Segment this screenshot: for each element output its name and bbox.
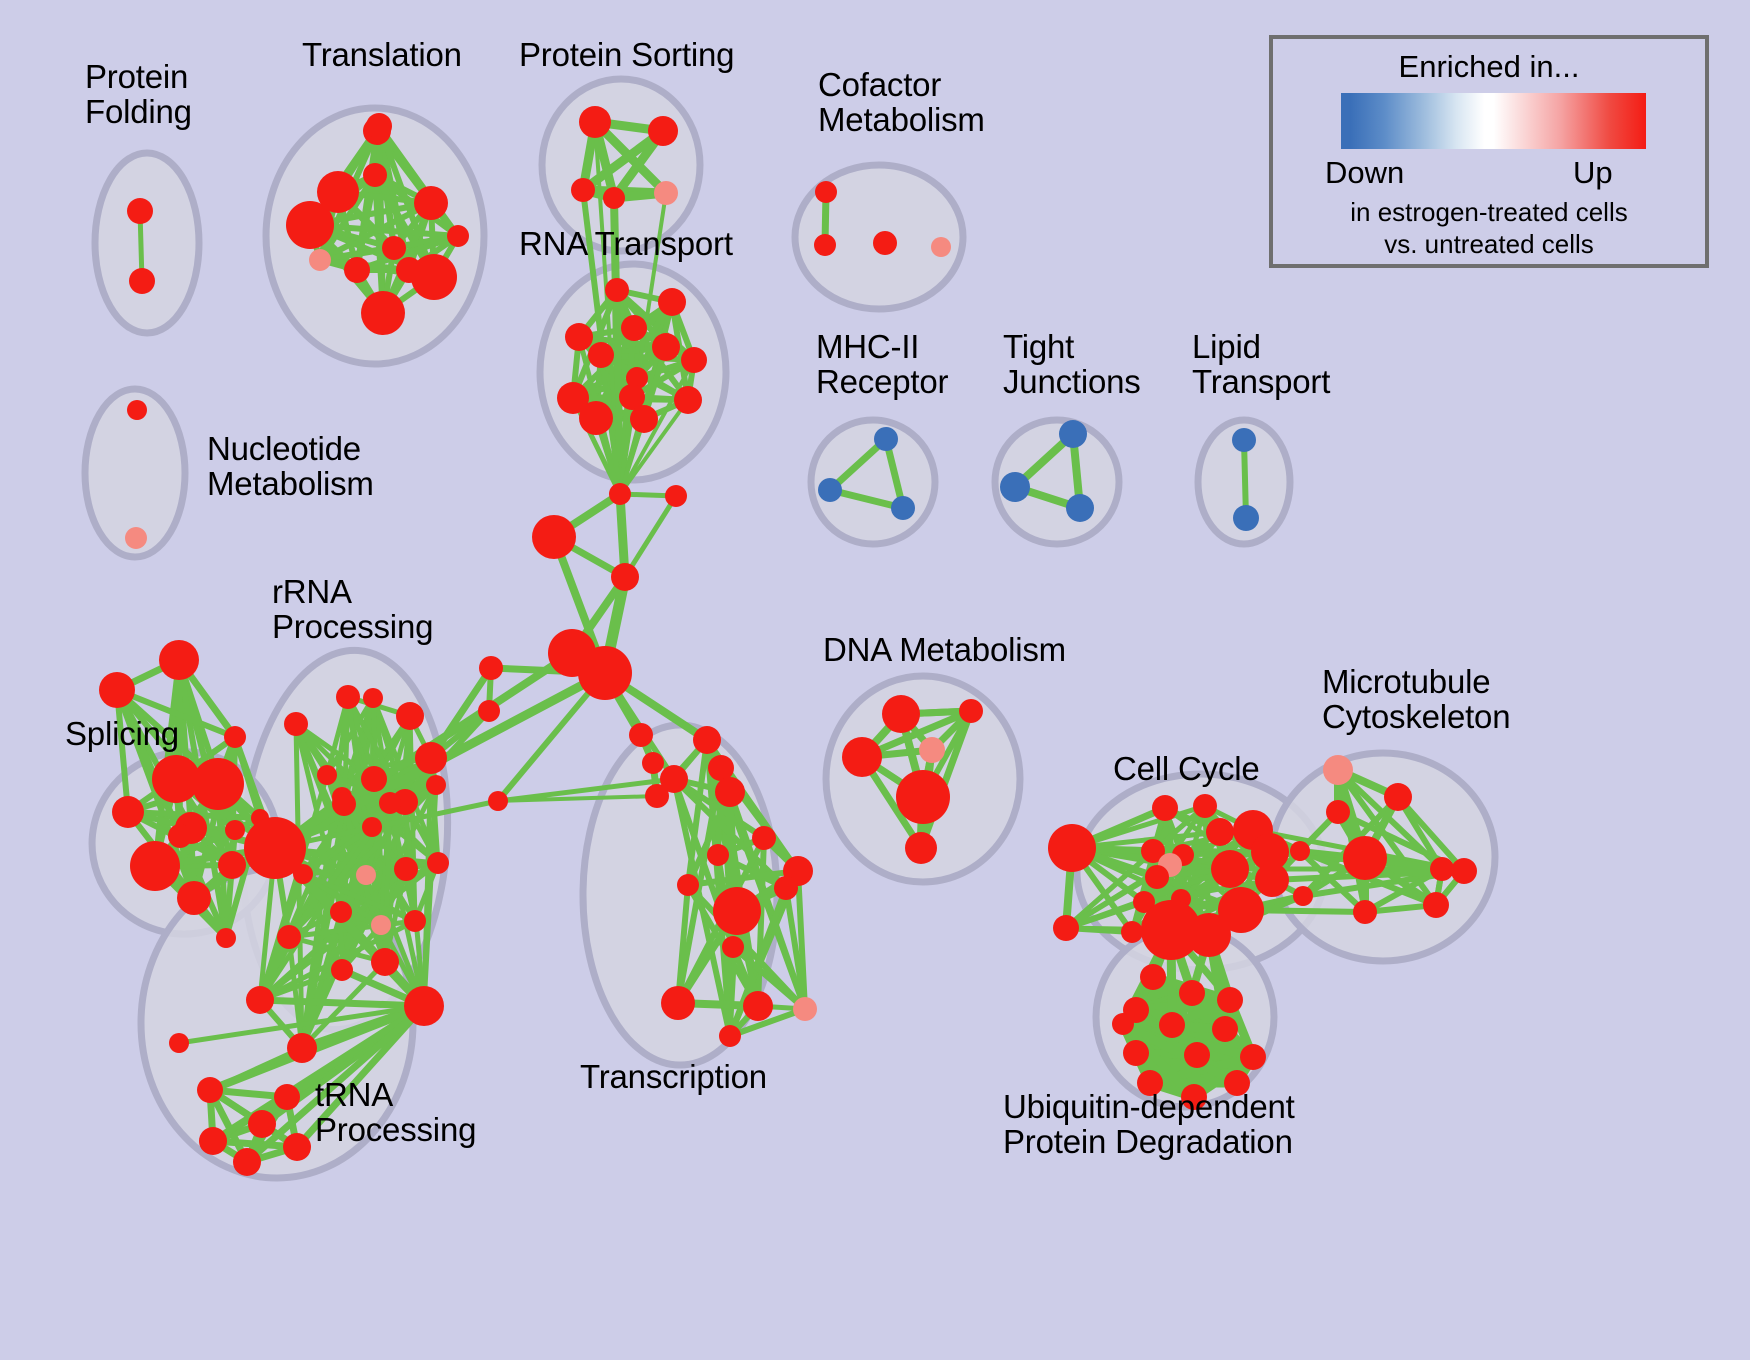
gene-set-node[interactable] xyxy=(363,163,387,187)
gene-set-node[interactable] xyxy=(168,824,192,848)
gene-set-node[interactable] xyxy=(415,742,447,774)
gene-set-node[interactable] xyxy=(605,278,629,302)
gene-set-node[interactable] xyxy=(681,347,707,373)
gene-set-node[interactable] xyxy=(404,986,444,1026)
gene-set-node[interactable] xyxy=(159,640,199,680)
gene-set-node[interactable] xyxy=(959,699,983,723)
gene-set-node[interactable] xyxy=(1384,783,1412,811)
gene-set-node[interactable] xyxy=(713,887,761,935)
gene-set-node[interactable] xyxy=(1112,1013,1134,1035)
gene-set-node[interactable] xyxy=(394,857,418,881)
gene-set-node[interactable] xyxy=(344,257,370,283)
gene-set-node[interactable] xyxy=(177,881,211,915)
gene-set-node[interactable] xyxy=(1326,800,1350,824)
gene-set-node[interactable] xyxy=(793,997,817,1021)
gene-set-node[interactable] xyxy=(842,737,882,777)
gene-set-node[interactable] xyxy=(665,485,687,507)
gene-set-node[interactable] xyxy=(630,405,658,433)
gene-set-node[interactable] xyxy=(818,478,842,502)
gene-set-node[interactable] xyxy=(1181,1084,1207,1110)
gene-set-node[interactable] xyxy=(224,726,246,748)
gene-set-node[interactable] xyxy=(1184,1042,1210,1068)
gene-set-node[interactable] xyxy=(277,925,301,949)
gene-set-node[interactable] xyxy=(654,181,678,205)
gene-set-node[interactable] xyxy=(1137,1070,1163,1096)
gene-set-node[interactable] xyxy=(645,784,669,808)
gene-set-node[interactable] xyxy=(719,1025,741,1047)
gene-set-node[interactable] xyxy=(652,333,680,361)
gene-set-node[interactable] xyxy=(1145,865,1169,889)
gene-set-node[interactable] xyxy=(246,986,274,1014)
gene-set-node[interactable] xyxy=(379,792,401,814)
gene-set-node[interactable] xyxy=(565,323,593,351)
gene-set-node[interactable] xyxy=(579,106,611,138)
gene-set-node[interactable] xyxy=(1152,795,1178,821)
gene-set-node[interactable] xyxy=(1053,915,1079,941)
gene-set-node[interactable] xyxy=(674,386,702,414)
gene-set-node[interactable] xyxy=(1290,841,1310,861)
gene-set-node[interactable] xyxy=(411,254,457,300)
gene-set-node[interactable] xyxy=(1293,886,1313,906)
gene-set-node[interactable] xyxy=(571,178,595,202)
gene-set-node[interactable] xyxy=(1212,1016,1238,1042)
gene-set-node[interactable] xyxy=(532,515,576,559)
gene-set-node[interactable] xyxy=(1430,857,1454,881)
gene-set-node[interactable] xyxy=(905,832,937,864)
gene-set-node[interactable] xyxy=(112,796,144,828)
enrichment-map-figure: Protein FoldingTranslationProtein Sortin… xyxy=(0,0,1750,1360)
gene-set-node[interactable] xyxy=(931,237,951,257)
legend-panel: Enriched in... Down Up in estrogen-treat… xyxy=(1269,35,1709,268)
gene-set-node[interactable] xyxy=(331,959,353,981)
gene-set-node[interactable] xyxy=(642,752,664,774)
gene-set-node[interactable] xyxy=(815,181,837,203)
gene-set-node[interactable] xyxy=(873,231,897,255)
gene-set-node[interactable] xyxy=(603,187,625,209)
gene-set-node[interactable] xyxy=(1240,1044,1266,1070)
gene-set-node[interactable] xyxy=(218,851,246,879)
gene-set-node[interactable] xyxy=(1121,921,1143,943)
gene-set-node[interactable] xyxy=(1066,494,1094,522)
gene-set-node[interactable] xyxy=(274,1084,300,1110)
gene-set-node[interactable] xyxy=(361,766,387,792)
gene-set-node[interactable] xyxy=(1323,755,1353,785)
legend-subtitle-line2: vs. untreated cells xyxy=(1273,229,1705,260)
gene-set-node[interactable] xyxy=(1193,794,1217,818)
gene-set-node[interactable] xyxy=(1159,1012,1185,1038)
gene-set-node[interactable] xyxy=(715,777,745,807)
gene-set-node[interactable] xyxy=(362,817,382,837)
gene-set-node[interactable] xyxy=(611,563,639,591)
gene-set-node[interactable] xyxy=(774,876,798,900)
gene-set-node[interactable] xyxy=(199,1127,227,1155)
gene-set-node[interactable] xyxy=(1179,980,1205,1006)
gene-set-node[interactable] xyxy=(578,646,632,700)
gene-set-node[interactable] xyxy=(1217,987,1243,1013)
hull-protein-folding xyxy=(95,153,199,333)
gene-set-node[interactable] xyxy=(371,948,399,976)
gene-set-node[interactable] xyxy=(286,201,334,249)
gene-set-node[interactable] xyxy=(1353,900,1377,924)
gene-set-node[interactable] xyxy=(478,700,500,722)
gene-set-node[interactable] xyxy=(693,726,721,754)
gene-set-node[interactable] xyxy=(743,991,773,1021)
legend-color-gradient-bar xyxy=(1341,93,1646,149)
gene-set-node[interactable] xyxy=(661,986,695,1020)
gene-set-node[interactable] xyxy=(287,1033,317,1063)
gene-set-node[interactable] xyxy=(169,1033,189,1053)
gene-set-node[interactable] xyxy=(361,291,405,335)
gene-set-node[interactable] xyxy=(371,915,391,935)
gene-set-node[interactable] xyxy=(414,186,448,220)
gene-set-node[interactable] xyxy=(609,483,631,505)
gene-set-node[interactable] xyxy=(426,775,446,795)
gene-set-node[interactable] xyxy=(1140,964,1166,990)
gene-set-node[interactable] xyxy=(382,236,406,260)
gene-set-node[interactable] xyxy=(363,688,383,708)
gene-set-node[interactable] xyxy=(1059,420,1087,448)
gene-set-node[interactable] xyxy=(621,315,647,341)
gene-set-node[interactable] xyxy=(1343,836,1387,880)
legend-up-label: Up xyxy=(1573,155,1613,191)
gene-set-node[interactable] xyxy=(332,792,356,816)
gene-set-node[interactable] xyxy=(919,737,945,763)
gene-set-node[interactable] xyxy=(896,770,950,824)
gene-set-node[interactable] xyxy=(752,826,776,850)
gene-set-node[interactable] xyxy=(1206,818,1234,846)
gene-set-node[interactable] xyxy=(233,1148,261,1176)
gene-set-node[interactable] xyxy=(309,249,331,271)
gene-set-node[interactable] xyxy=(1123,1040,1149,1066)
gene-set-node[interactable] xyxy=(225,820,245,840)
gene-set-node[interactable] xyxy=(447,225,469,247)
gene-set-node[interactable] xyxy=(722,936,744,958)
gene-set-node[interactable] xyxy=(330,901,352,923)
gene-set-node[interactable] xyxy=(588,342,614,368)
gene-set-node[interactable] xyxy=(1423,892,1449,918)
gene-set-node[interactable] xyxy=(197,1077,223,1103)
gene-set-node[interactable] xyxy=(629,723,653,747)
gene-set-node[interactable] xyxy=(1224,1070,1250,1096)
gene-set-node[interactable] xyxy=(130,841,180,891)
legend-subtitle-line1: in estrogen-treated cells xyxy=(1273,197,1705,228)
gene-set-node[interactable] xyxy=(1232,428,1256,452)
gene-set-node[interactable] xyxy=(396,702,424,730)
gene-set-node[interactable] xyxy=(891,496,915,520)
gene-set-node[interactable] xyxy=(658,288,686,316)
gene-set-node[interactable] xyxy=(336,685,360,709)
gene-set-node[interactable] xyxy=(248,1110,276,1138)
gene-set-node[interactable] xyxy=(192,758,244,810)
gene-set-node[interactable] xyxy=(127,400,147,420)
gene-set-node[interactable] xyxy=(404,910,426,932)
gene-set-node[interactable] xyxy=(356,865,376,885)
legend-down-label: Down xyxy=(1325,155,1404,191)
gene-set-node[interactable] xyxy=(284,712,308,736)
gene-set-node[interactable] xyxy=(579,401,613,435)
gene-set-node[interactable] xyxy=(366,113,392,139)
gene-set-node[interactable] xyxy=(707,844,729,866)
gene-set-node[interactable] xyxy=(874,427,898,451)
network-edge xyxy=(625,496,676,577)
gene-set-node[interactable] xyxy=(127,198,153,224)
gene-set-node[interactable] xyxy=(99,672,135,708)
gene-set-node[interactable] xyxy=(1000,472,1030,502)
gene-set-node[interactable] xyxy=(125,527,147,549)
gene-set-node[interactable] xyxy=(293,864,313,884)
gene-set-node[interactable] xyxy=(317,765,337,785)
gene-set-node[interactable] xyxy=(1255,863,1289,897)
legend-title: Enriched in... xyxy=(1273,49,1705,85)
gene-set-node[interactable] xyxy=(677,874,699,896)
gene-set-node[interactable] xyxy=(1048,824,1096,872)
gene-set-node[interactable] xyxy=(1187,913,1231,957)
gene-set-node[interactable] xyxy=(1451,858,1477,884)
gene-set-node[interactable] xyxy=(1233,505,1259,531)
gene-set-node[interactable] xyxy=(648,116,678,146)
gene-set-node[interactable] xyxy=(479,656,503,680)
gene-set-node[interactable] xyxy=(882,695,920,733)
gene-set-node[interactable] xyxy=(427,852,449,874)
gene-set-node[interactable] xyxy=(1211,850,1249,888)
gene-set-node[interactable] xyxy=(129,268,155,294)
gene-set-node[interactable] xyxy=(283,1133,311,1161)
gene-set-node[interactable] xyxy=(814,234,836,256)
gene-set-node[interactable] xyxy=(488,791,508,811)
gene-set-node[interactable] xyxy=(216,928,236,948)
